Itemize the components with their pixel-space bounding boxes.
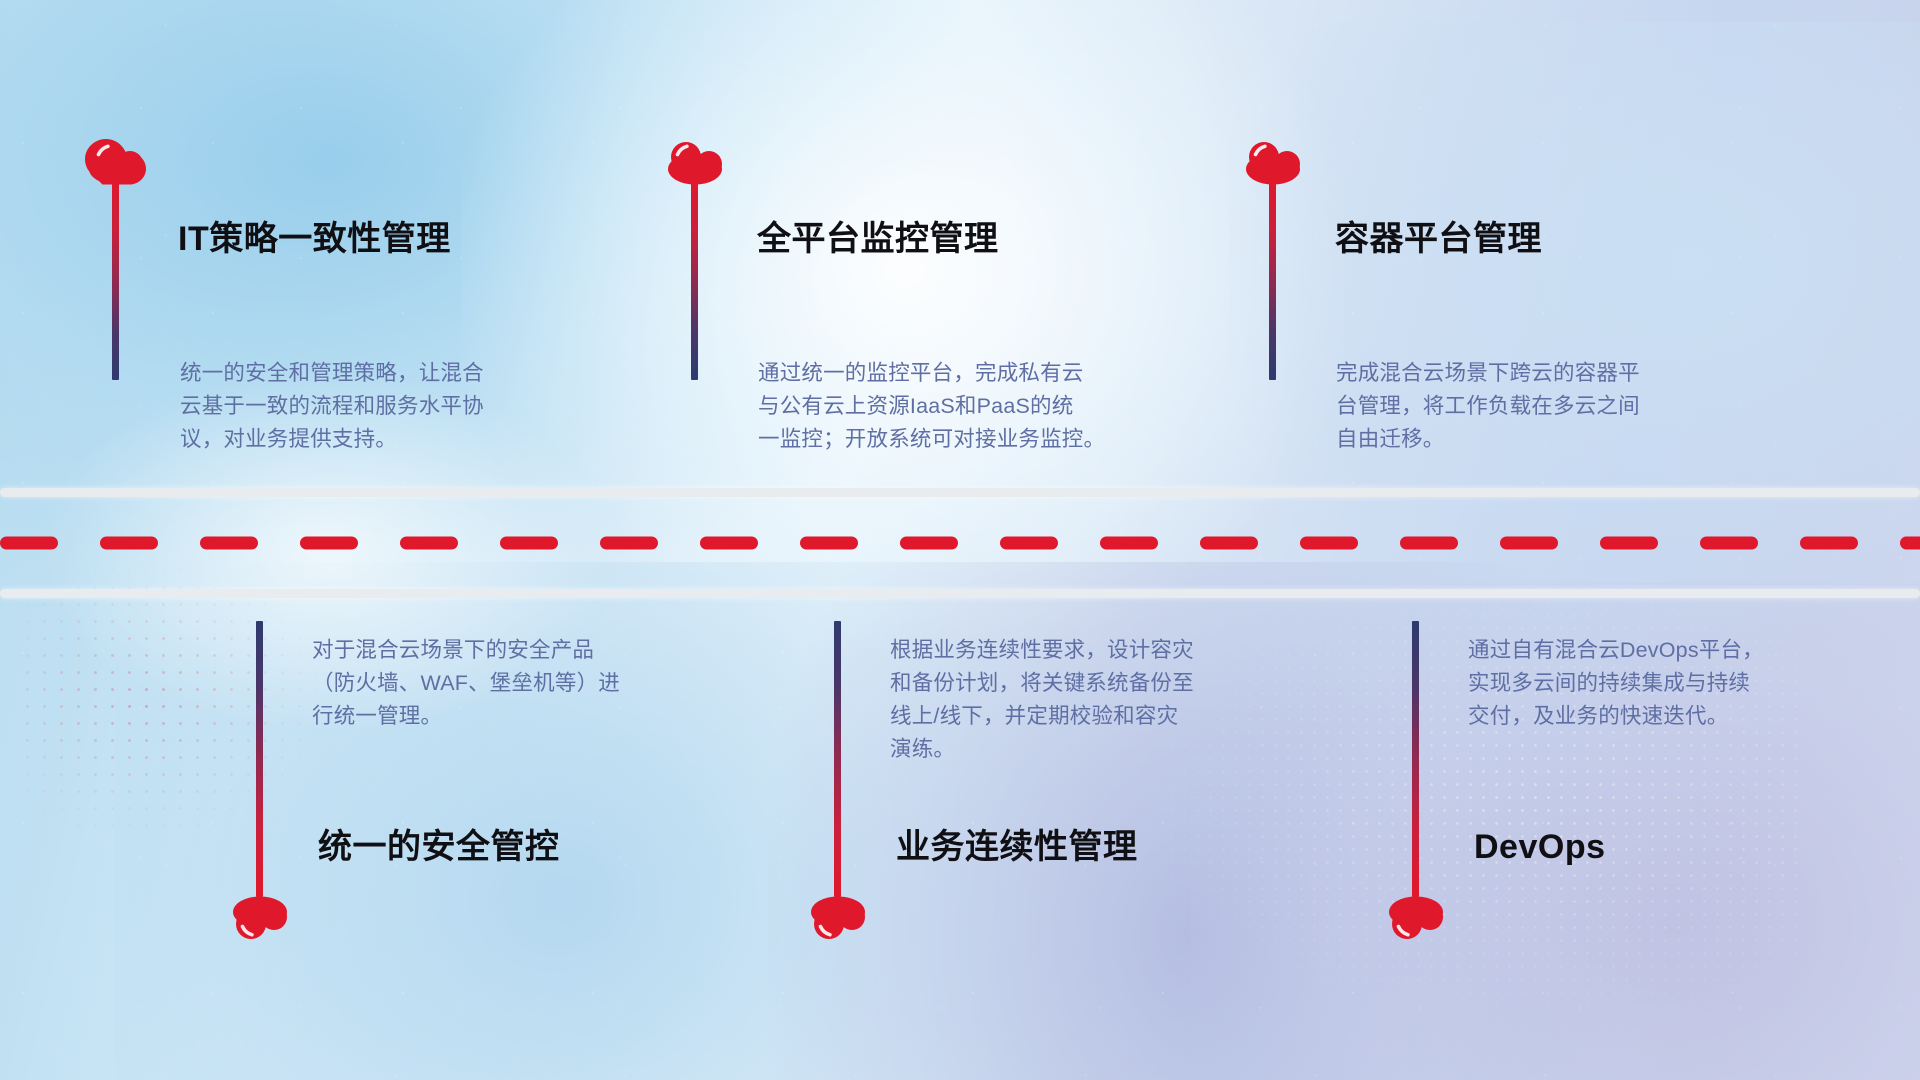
body-line: （防火墙、WAF、堡垒机等）进	[312, 667, 742, 700]
road-dash	[900, 537, 958, 550]
bottom-card-body-2: 根据业务连续性要求，设计容灾 和备份计划，将关键系统备份至 线上/线下，并定期校…	[890, 634, 1330, 766]
body-line: 通过自有混合云DevOps平台，	[1468, 634, 1888, 667]
road-dash	[500, 537, 558, 550]
body-line: 完成混合云场景下跨云的容器平	[1336, 357, 1756, 390]
body-line: 根据业务连续性要求，设计容灾	[890, 634, 1330, 667]
stem-line-top-1	[112, 180, 119, 380]
road-dash	[1800, 537, 1858, 550]
road-dash	[1200, 537, 1258, 550]
body-line: 对于混合云场景下的安全产品	[312, 634, 742, 667]
road-center-dashed-line	[0, 537, 1920, 550]
road-dash	[600, 537, 658, 550]
bottom-card-body-1: 对于混合云场景下的安全产品 （防火墙、WAF、堡垒机等）进 行统一管理。	[312, 634, 742, 733]
body-line: 线上/线下，并定期校验和容灾	[890, 700, 1330, 733]
body-line: 演练。	[890, 733, 1330, 766]
top-card-title-1: IT策略一致性管理	[178, 222, 451, 256]
cloud-icon	[85, 139, 147, 185]
cloud-icon	[664, 139, 726, 185]
stem-line-bottom-2	[834, 621, 841, 897]
road-dash	[1500, 537, 1558, 550]
road-dash	[300, 537, 358, 550]
body-line: 行统一管理。	[312, 700, 742, 733]
cloud-icon-top-3	[1242, 139, 1304, 185]
body-line: 自由迁移。	[1336, 423, 1756, 456]
cloud-icon	[807, 896, 869, 942]
road-dash	[1400, 537, 1458, 550]
body-line: 台管理，将工作负载在多云之间	[1336, 390, 1756, 423]
road-dash	[1300, 537, 1358, 550]
stem-line-bottom-3	[1412, 621, 1419, 897]
cloud-icon-top-1	[85, 139, 147, 185]
road-edge-bottom-line	[0, 589, 1920, 598]
bottom-card-body-3: 通过自有混合云DevOps平台， 实现多云间的持续集成与持续 交付，及业务的快速…	[1468, 634, 1888, 733]
road-dash	[800, 537, 858, 550]
road-edge-top-line	[0, 488, 1920, 497]
body-line: 与公有云上资源IaaS和PaaS的统	[758, 390, 1198, 423]
top-card-title-3: 容器平台管理	[1335, 222, 1542, 256]
road-dash	[100, 537, 158, 550]
body-line: 交付，及业务的快速迭代。	[1468, 700, 1888, 733]
stem-line-bottom-1	[256, 621, 263, 897]
top-card-title-2: 全平台监控管理	[757, 222, 999, 256]
bottom-card-title-3: DevOps	[1474, 830, 1606, 864]
body-line: 和备份计划，将关键系统备份至	[890, 667, 1330, 700]
body-line: 一监控；开放系统可对接业务监控。	[758, 423, 1198, 456]
stem-line-top-2	[691, 180, 698, 380]
bottom-card-title-1: 统一的安全管控	[318, 830, 560, 864]
cloud-icon	[1385, 896, 1447, 942]
body-line: 议，对业务提供支持。	[180, 423, 610, 456]
road-dash	[400, 537, 458, 550]
top-card-body-1: 统一的安全和管理策略，让混合 云基于一致的流程和服务水平协 议，对业务提供支持。	[180, 357, 610, 456]
cloud-icon-top-2	[664, 139, 726, 185]
road-dash	[1700, 537, 1758, 550]
body-line: 通过统一的监控平台，完成私有云	[758, 357, 1198, 390]
road-dash	[1100, 537, 1158, 550]
road-dash	[700, 537, 758, 550]
body-line: 统一的安全和管理策略，让混合	[180, 357, 610, 390]
body-line: 实现多云间的持续集成与持续	[1468, 667, 1888, 700]
top-card-body-2: 通过统一的监控平台，完成私有云 与公有云上资源IaaS和PaaS的统 一监控；开…	[758, 357, 1198, 456]
body-line: 云基于一致的流程和服务水平协	[180, 390, 610, 423]
cloud-icon	[229, 896, 291, 942]
bottom-card-title-2: 业务连续性管理	[896, 830, 1138, 864]
cloud-icon-bottom-3	[1385, 896, 1447, 942]
road-dash	[1000, 537, 1058, 550]
bottom-row-group: 对于混合云场景下的安全产品 （防火墙、WAF、堡垒机等）进 行统一管理。 统一的…	[0, 598, 1920, 1080]
road-dash	[200, 537, 258, 550]
road-divider	[0, 488, 1920, 598]
road-dash	[1900, 537, 1920, 550]
cloud-icon-bottom-2	[807, 896, 869, 942]
cloud-icon-bottom-1	[229, 896, 291, 942]
road-dash	[0, 537, 58, 550]
stem-line-top-3	[1269, 180, 1276, 380]
road-dash	[1600, 537, 1658, 550]
top-row-group: IT策略一致性管理 统一的安全和管理策略，让混合 云基于一致的流程和服务水平协 …	[0, 0, 1920, 488]
top-card-body-3: 完成混合云场景下跨云的容器平 台管理，将工作负载在多云之间 自由迁移。	[1336, 357, 1756, 456]
cloud-icon	[1242, 139, 1304, 185]
